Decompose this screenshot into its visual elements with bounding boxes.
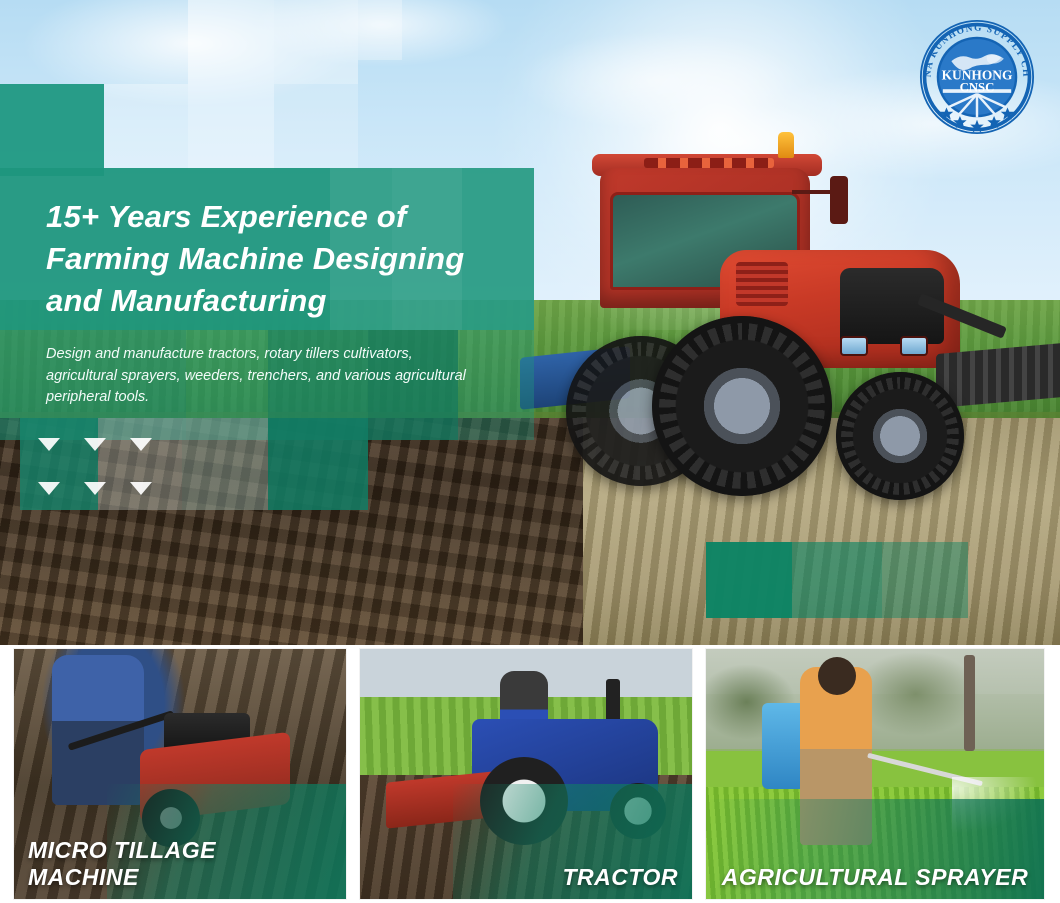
triangle-block-3 — [182, 418, 268, 510]
operator-head — [818, 657, 856, 695]
decor-block-4 — [274, 0, 358, 84]
chevron-down-icon — [84, 482, 106, 495]
chevron-down-icon — [84, 438, 106, 451]
decor-block-2 — [104, 84, 188, 168]
hero-banner: 15+ Years Experience of Farming Machine … — [0, 0, 1060, 645]
decor-block-1 — [0, 84, 104, 176]
product-card-strip: MICRO TILLAGE MACHINE TRACTOR AGRICU — [0, 645, 1060, 903]
logo-line-2: CNSC — [960, 81, 995, 95]
headlight-right-icon — [900, 336, 928, 356]
decor-block-3 — [188, 0, 274, 170]
product-card-micro-tillage-machine[interactable]: MICRO TILLAGE MACHINE — [14, 649, 346, 899]
product-card-label: TRACTOR — [360, 864, 692, 891]
product-card-label: MICRO TILLAGE MACHINE — [14, 837, 346, 891]
hood-vent — [736, 262, 788, 306]
triangle-grid — [38, 438, 158, 500]
hero-tractor-photo — [540, 140, 1060, 520]
chevron-down-icon — [130, 438, 152, 451]
front-counterweight — [936, 342, 1060, 408]
product-card-agricultural-sprayer[interactable]: AGRICULTURAL SPRAYER — [706, 649, 1044, 899]
headlight-left-icon — [840, 336, 868, 356]
tractor-wheel-front — [836, 372, 964, 500]
beacon-light-icon — [778, 132, 794, 158]
hero-subtext: Design and manufacture tractors, rotary … — [46, 344, 476, 409]
chevron-down-icon — [38, 438, 60, 451]
side-mirror — [830, 176, 848, 224]
accent-block-1 — [706, 542, 792, 618]
tree-trunk — [964, 655, 975, 751]
product-card-tractor[interactable]: TRACTOR — [360, 649, 692, 899]
chevron-down-icon — [38, 482, 60, 495]
chevron-down-icon — [130, 482, 152, 495]
product-card-label: AGRICULTURAL SPRAYER — [706, 864, 1044, 891]
decor-block-6 — [358, 0, 402, 60]
tree-line — [706, 649, 1044, 751]
hero-headline: 15+ Years Experience of Farming Machine … — [46, 196, 526, 322]
roof-lights — [644, 158, 774, 168]
company-logo: KUNHONG CNSC CHINA KUNHONG SUPPLY CHAIN — [916, 16, 1038, 138]
triangle-block-4 — [268, 418, 368, 510]
accent-block-2 — [792, 542, 882, 618]
tractor-wheel-rear — [652, 316, 832, 496]
decor-block-5 — [274, 84, 358, 168]
accent-block-3 — [882, 542, 968, 618]
